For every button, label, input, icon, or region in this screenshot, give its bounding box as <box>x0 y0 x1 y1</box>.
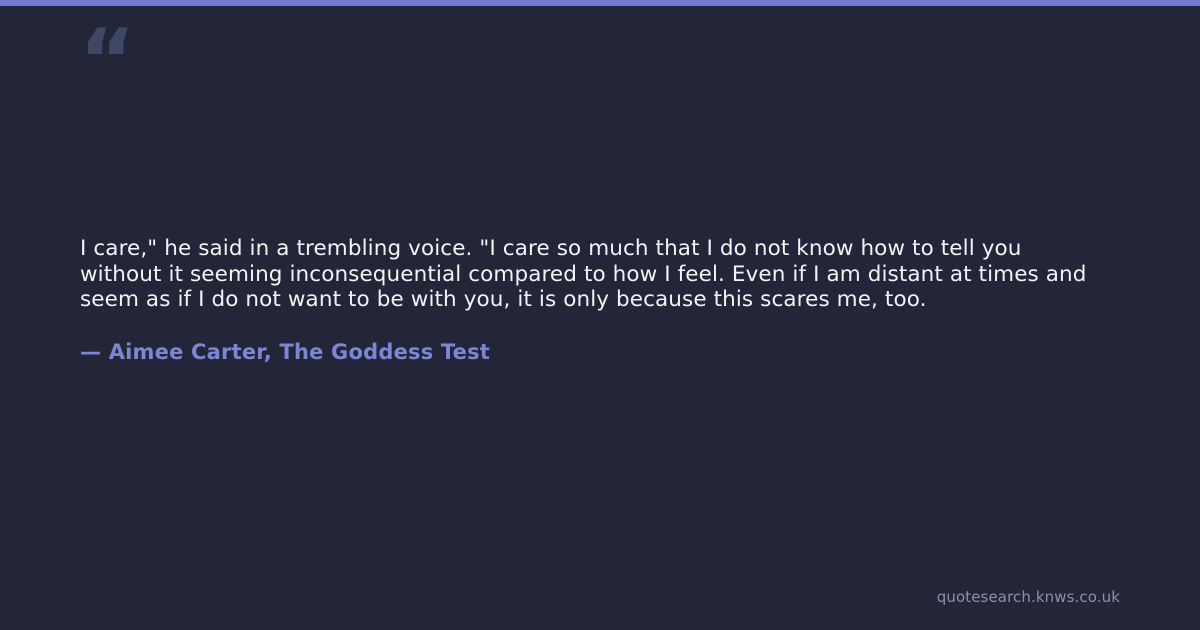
quote-text: I care," he said in a trembling voice. "… <box>80 236 1090 313</box>
quote-content: I care," he said in a trembling voice. "… <box>80 236 1090 364</box>
quote-card: “ I care," he said in a trembling voice.… <box>0 0 1200 630</box>
site-url: quotesearch.knws.co.uk <box>937 588 1120 606</box>
open-quote-icon: “ <box>79 18 134 104</box>
quote-attribution: — Aimee Carter, The Goddess Test <box>80 313 1090 364</box>
top-accent-bar <box>0 0 1200 6</box>
